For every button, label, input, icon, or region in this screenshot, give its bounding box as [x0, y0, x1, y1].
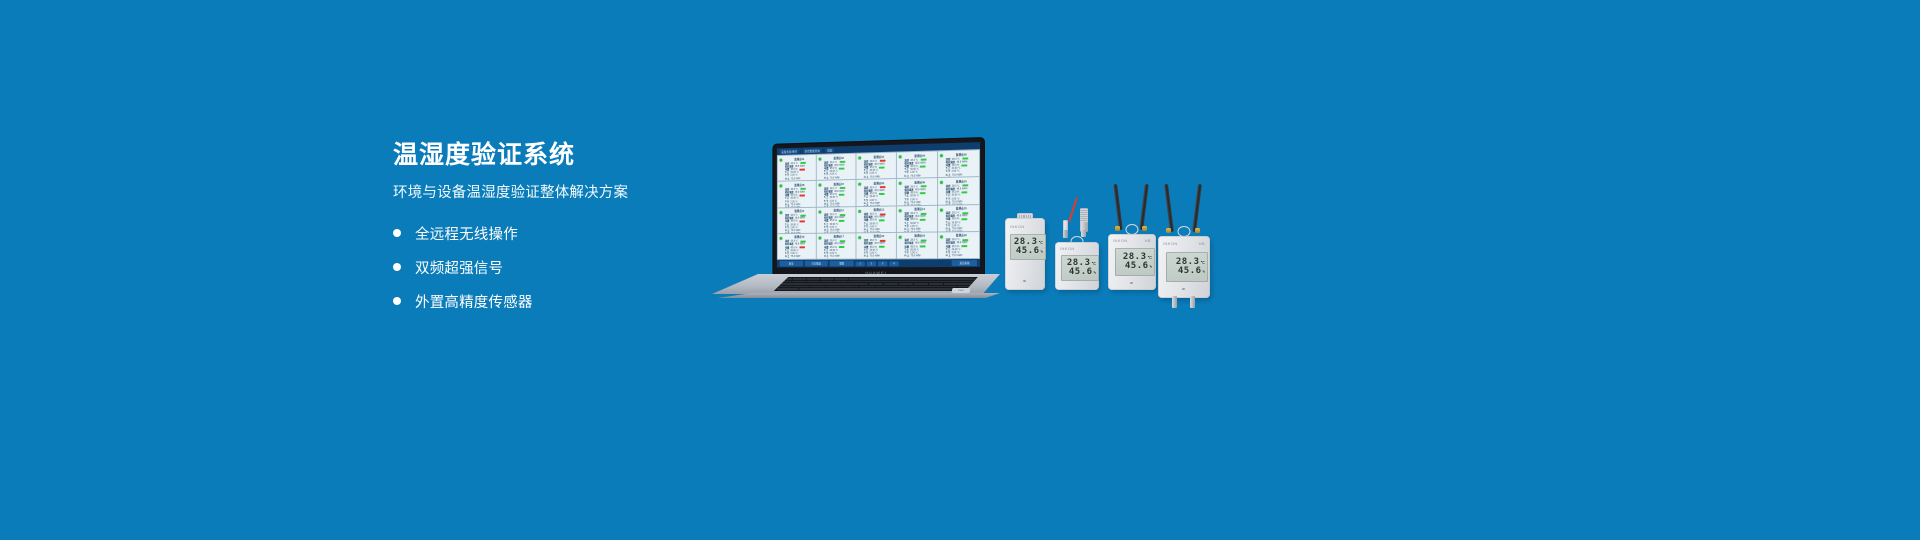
device-body: INKON 28.3 ℃ 45.6 %: [1005, 218, 1045, 290]
sensor-neck: [1172, 296, 1177, 308]
monitoring-card[interactable]: 监测点11温度28.3 ℃相对湿度45.6 %RH电量95.0 %T-上30.0…: [778, 207, 816, 233]
laptop-illustration: 设备连接/断开 历史数据查询 帮助 监测点01温度28.3 ℃相对湿度45.6 …: [712, 138, 1000, 300]
device-lcd-display: 28.3 ℃ 45.6 %: [1010, 234, 1046, 260]
antenna-base-left: [1166, 228, 1171, 233]
device-brand: INKON: [1010, 224, 1025, 229]
status-badge: [839, 167, 845, 169]
device-temp-humidity-logger-basic: INKON 28.3 ℃ 45.6 %: [1005, 218, 1045, 290]
sensor-mesh-icon: [1080, 208, 1088, 222]
status-badge: [839, 194, 845, 196]
monitoring-card-title: 监测点09: [904, 180, 935, 185]
monitoring-card-title: 监测点10: [946, 179, 977, 184]
device-model: HB: [1199, 241, 1205, 246]
laptop-base-edge: [712, 293, 1000, 298]
monitoring-card-title: 监测点08: [864, 181, 894, 186]
toolbar-button-print[interactable]: 打印报表: [805, 261, 828, 267]
monitoring-card[interactable]: 监测点04温度28.3 ℃相对湿度45.6 %RH电量95.0 %T-上30.0…: [897, 151, 937, 178]
monitoring-card[interactable]: 监测点03温度28.3 ℃相对湿度45.6 %RH电量95.0 %T-上30.0…: [856, 153, 895, 180]
bullet-dot-icon: [393, 229, 401, 237]
feature-label: 双频超强信号: [415, 257, 503, 278]
monitoring-card[interactable]: 监测点08温度28.3 ℃相对湿度45.6 %RH电量95.0 %T-上30.0…: [856, 179, 895, 205]
lcd-temperature-unit: ℃: [1148, 256, 1153, 260]
list-item: 全远程无线操作: [393, 223, 723, 244]
probe-cable: [1068, 197, 1078, 222]
monitoring-card[interactable]: 监测点20温度28.3 ℃相对湿度45.6 %RH电量95.0 %T-上30.0…: [938, 232, 979, 258]
laptop-display: 设备连接/断开 历史数据查询 帮助 监测点01温度28.3 ℃相对湿度45.6 …: [777, 142, 980, 267]
status-led-icon: [819, 158, 822, 161]
status-badge: [962, 164, 968, 166]
monitoring-card-title: 监测点13: [864, 207, 894, 211]
monitoring-card[interactable]: 监测点01温度28.3 ℃相对湿度45.6 %RH电量95.0 %T-上30.0…: [778, 155, 816, 181]
status-badge: [920, 165, 926, 167]
product-banner: 温湿度验证系统 环境与设备温湿度验证整体解决方案 全远程无线操作 双频超强信号 …: [0, 0, 1920, 540]
lcd-humidity-unit: %: [1094, 271, 1096, 275]
bullet-dot-icon: [393, 297, 401, 305]
device-indicator-led: [1130, 282, 1133, 285]
monitoring-card-title: 监测点12: [824, 208, 854, 212]
antenna-base-right: [1195, 228, 1200, 233]
monitoring-card-title: 监测点17: [824, 235, 854, 239]
lcd-humidity-row: 45.6 %: [1169, 267, 1205, 276]
device-brand-row: INKON HB: [1158, 241, 1210, 246]
device-lcd-display: 28.3 ℃ 45.6 %: [1061, 255, 1099, 281]
monitoring-card[interactable]: 监测点07温度28.3 ℃相对湿度45.6 %RH电量95.0 %T-上30.0…: [817, 180, 856, 206]
device-brand: INKON: [1060, 246, 1075, 251]
alarm-badge: [800, 194, 805, 196]
status-led-icon: [940, 235, 943, 238]
device-lcd-display: 28.3 ℃ 45.6 %: [1166, 252, 1208, 282]
laptop-base: Intel: [712, 274, 1000, 300]
lcd-humidity-unit: %: [1041, 250, 1043, 254]
feature-label: 全远程无线操作: [415, 223, 518, 244]
device-brand-row: INKON: [1055, 246, 1099, 251]
monitoring-card[interactable]: 监测点14温度28.3 ℃相对湿度45.6 %RH电量95.0 %T-上30.0…: [897, 205, 937, 231]
toolbar-page-2[interactable]: 2: [867, 261, 876, 266]
menu-item-help[interactable]: 帮助: [825, 148, 834, 153]
monitoring-card-title: 监测点11: [785, 209, 814, 213]
monitoring-card-title: 监测点18: [864, 234, 894, 238]
list-item: 双频超强信号: [393, 257, 723, 278]
device-indicator-led: [1182, 288, 1185, 291]
monitoring-card-title: 监测点14: [904, 207, 935, 211]
monitoring-card[interactable]: 监测点12温度28.3 ℃相对湿度45.6 %RH电量95.0 %T-上30.0…: [817, 207, 856, 233]
lcd-humidity-value: 45.6: [1016, 247, 1040, 256]
device-model: HB: [1145, 238, 1151, 243]
status-badge: [920, 192, 926, 194]
monitoring-card[interactable]: 监测点19温度28.3 ℃相对湿度45.6 %RH电量95.0 %T-上30.0…: [897, 232, 937, 258]
antenna-base-right: [1142, 226, 1147, 231]
antenna-right-icon: [1192, 184, 1202, 232]
status-led-icon: [858, 236, 861, 239]
monitoring-card[interactable]: 监测点16温度28.3 ℃相对湿度45.6 %RH电量95.0 %T-上30.0…: [778, 234, 816, 259]
status-led-icon: [940, 154, 943, 157]
toolbar-button-alarm[interactable]: 报警: [830, 261, 854, 267]
alarm-badge: [800, 168, 805, 170]
device-lcd-display: 28.3 ℃ 45.6 %: [1115, 248, 1155, 276]
menu-item-connect[interactable]: 设备连接/断开: [780, 149, 800, 154]
monitoring-card[interactable]: 监测点18温度28.3 ℃相对湿度45.6 %RH电量95.0 %T-上30.0…: [856, 233, 895, 259]
monitoring-card-title: 监测点19: [904, 234, 935, 238]
lcd-humidity-unit: %: [1150, 265, 1152, 269]
status-badge: [920, 219, 926, 221]
monitoring-card-title: 监测点06: [785, 183, 814, 187]
monitoring-card[interactable]: 监测点17温度28.3 ℃相对湿度45.6 %RH电量95.0 %T-上30.0…: [817, 233, 856, 259]
antenna-left-icon: [1164, 184, 1174, 232]
bullet-dot-icon: [393, 263, 401, 271]
status-led-icon: [780, 211, 783, 214]
status-led-icon: [899, 182, 902, 185]
status-led-icon: [780, 159, 783, 162]
status-badge: [879, 193, 885, 195]
monitoring-card-title: 监测点15: [946, 206, 977, 210]
monitoring-card[interactable]: 监测点05温度28.3 ℃相对湿度45.6 %RH电量95.0 %T-上30.0…: [938, 150, 979, 177]
device-wireless-logger-dual-antenna-2: INKON HB 28.3 ℃ 45.6 %: [1158, 184, 1210, 298]
toolbar-page-4[interactable]: 4: [889, 261, 898, 266]
lcd-temperature-unit: ℃: [1201, 261, 1206, 265]
toolbar-page-3[interactable]: 3: [878, 261, 887, 266]
lcd-humidity-value: 45.6: [1178, 267, 1202, 276]
monitoring-card-title: 监测点16: [785, 235, 814, 239]
alarm-badge: [800, 221, 805, 223]
monitoring-card-title: 监测点20: [946, 233, 977, 237]
device-body: INKON HB 28.3 ℃ 45.6 %: [1158, 236, 1210, 298]
monitoring-card[interactable]: 监测点09温度28.3 ℃相对湿度45.6 %RH电量95.0 %T-上30.0…: [897, 178, 937, 205]
status-led-icon: [899, 209, 902, 212]
device-temp-humidity-logger-probe: INKON 28.3 ℃ 45.6 %: [1055, 196, 1099, 290]
page-subtitle: 环境与设备温湿度验证整体解决方案: [393, 184, 723, 203]
monitoring-card[interactable]: 监测点10温度28.3 ℃相对湿度45.6 %RH电量95.0 %T-上30.0…: [938, 177, 979, 204]
device-body: INKON HB 28.3 ℃ 45.6 %: [1108, 234, 1156, 290]
lcd-humidity-row: 45.6 %: [1064, 268, 1096, 277]
laptop-sticker: Intel: [952, 288, 971, 293]
status-led-icon: [819, 236, 822, 239]
device-brand-row: INKON HB: [1108, 238, 1156, 243]
toolbar-button-more[interactable]: 更多: [780, 261, 803, 267]
sensor-neck: [1081, 230, 1086, 237]
keyboard-rows: [777, 278, 975, 290]
external-sensor-probe: [1080, 208, 1088, 232]
status-badge: [879, 166, 885, 168]
status-led-icon: [858, 156, 861, 159]
device-brand-row: INKON: [1005, 224, 1045, 229]
monitoring-card[interactable]: 监测点06温度28.3 ℃相对湿度45.6 %RH电量95.0 %T-上30.0…: [778, 181, 816, 207]
lcd-humidity-value: 45.6: [1069, 268, 1093, 277]
antenna-base-left: [1115, 226, 1120, 231]
status-badge: [839, 220, 845, 222]
monitoring-card-title: 监测点07: [824, 182, 854, 187]
status-led-icon: [858, 183, 861, 186]
list-item: 外置高精度传感器: [393, 291, 723, 312]
lcd-humidity-row: 45.6 %: [1013, 247, 1043, 256]
monitoring-card[interactable]: 监测点15温度28.3 ℃相对湿度45.6 %RH电量95.0 %T-上30.0…: [938, 205, 979, 232]
laptop-lid: 设备连接/断开 历史数据查询 帮助 监测点01温度28.3 ℃相对湿度45.6 …: [773, 138, 984, 278]
monitoring-card-grid: 监测点01温度28.3 ℃相对湿度45.6 %RH电量95.0 %T-上30.0…: [777, 149, 980, 260]
device-indicator-led: [1023, 280, 1026, 283]
status-led-icon: [940, 181, 943, 184]
toolbar-button-exit[interactable]: 退出系统: [952, 260, 977, 266]
antenna-right-icon: [1139, 184, 1149, 230]
banner-copy: 温湿度验证系统 环境与设备温湿度验证整体解决方案 全远程无线操作 双频超强信号 …: [393, 140, 723, 325]
device-brand: INKON: [1163, 241, 1178, 246]
probe-metal-tip: [1063, 230, 1068, 238]
lcd-humidity-unit: %: [1203, 270, 1205, 274]
sensor-neck: [1190, 296, 1195, 308]
monitoring-card[interactable]: 监测点02温度28.3 ℃相对湿度45.6 %RH电量95.0 %T-上30.0…: [817, 154, 856, 180]
lcd-temperature-unit: ℃: [1039, 241, 1044, 245]
status-led-icon: [819, 184, 822, 187]
lcd-temperature-unit: ℃: [1092, 262, 1097, 266]
feature-label: 外置高精度传感器: [415, 291, 533, 312]
status-led-icon: [858, 209, 861, 212]
feature-list: 全远程无线操作 双频超强信号 外置高精度传感器: [393, 223, 723, 312]
monitoring-card[interactable]: 监测点13温度28.3 ℃相对湿度45.6 %RH电量95.0 %T-上30.0…: [856, 206, 895, 232]
status-led-icon: [899, 236, 902, 239]
status-badge: [962, 191, 968, 193]
lcd-humidity-row: 45.6 %: [1118, 262, 1152, 271]
monitoring-dashboard: 设备连接/断开 历史数据查询 帮助 监测点01温度28.3 ℃相对湿度45.6 …: [777, 142, 980, 267]
status-led-icon: [819, 210, 822, 213]
laptop-keyboard[interactable]: [774, 277, 978, 291]
status-badge: [879, 219, 885, 221]
device-wireless-logger-dual-antenna-1: INKON HB 28.3 ℃ 45.6 %: [1108, 184, 1156, 290]
antenna-left-icon: [1113, 184, 1123, 230]
status-led-icon: [780, 185, 783, 188]
menu-item-history[interactable]: 历史数据查询: [803, 148, 822, 153]
status-led-icon: [940, 208, 943, 211]
lcd-humidity-value: 45.6: [1125, 262, 1149, 271]
status-badge: [962, 218, 968, 220]
page-title: 温湿度验证系统: [393, 140, 723, 170]
device-body: INKON 28.3 ℃ 45.6 %: [1055, 242, 1099, 290]
status-led-icon: [780, 237, 783, 240]
status-led-icon: [899, 155, 902, 158]
device-brand: INKON: [1113, 238, 1128, 243]
toolbar-page-1[interactable]: 1: [856, 261, 865, 266]
keyboard-row: [777, 288, 973, 290]
